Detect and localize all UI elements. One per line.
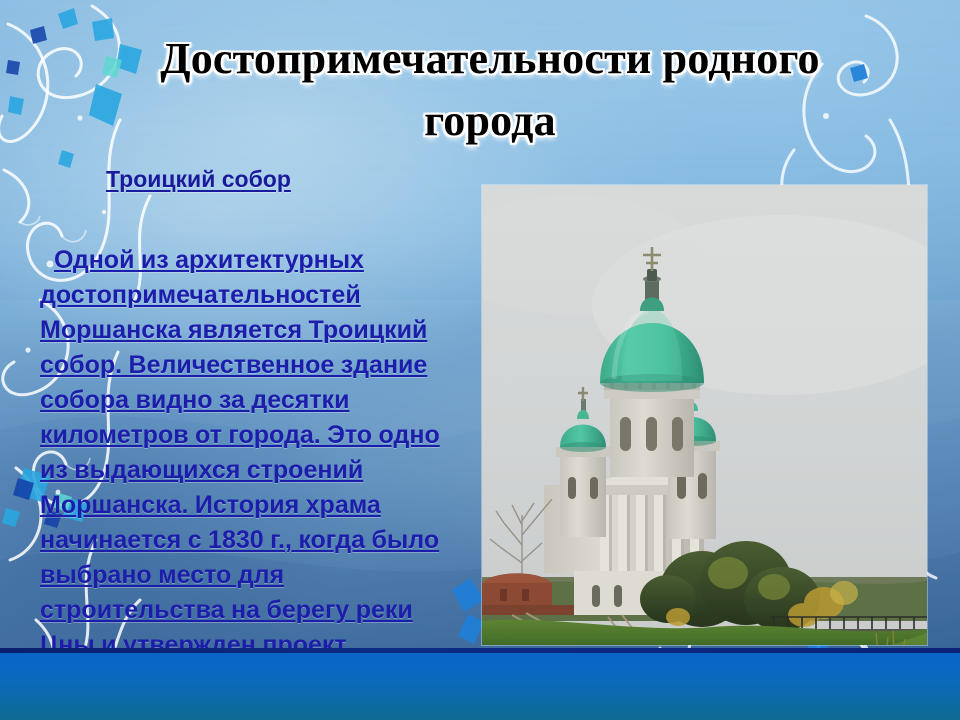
presentation-slide: Достопримечательности родного города Тро… [0, 0, 960, 720]
slide-title: Достопримечательности родного города [60, 28, 920, 152]
footer-bar [0, 648, 960, 720]
footer-band [0, 653, 960, 720]
section-heading: Троицкий собор [106, 166, 291, 193]
body-paragraph: Одной из архитектурных достопримечательн… [40, 243, 460, 663]
cathedral-photo [482, 185, 927, 645]
